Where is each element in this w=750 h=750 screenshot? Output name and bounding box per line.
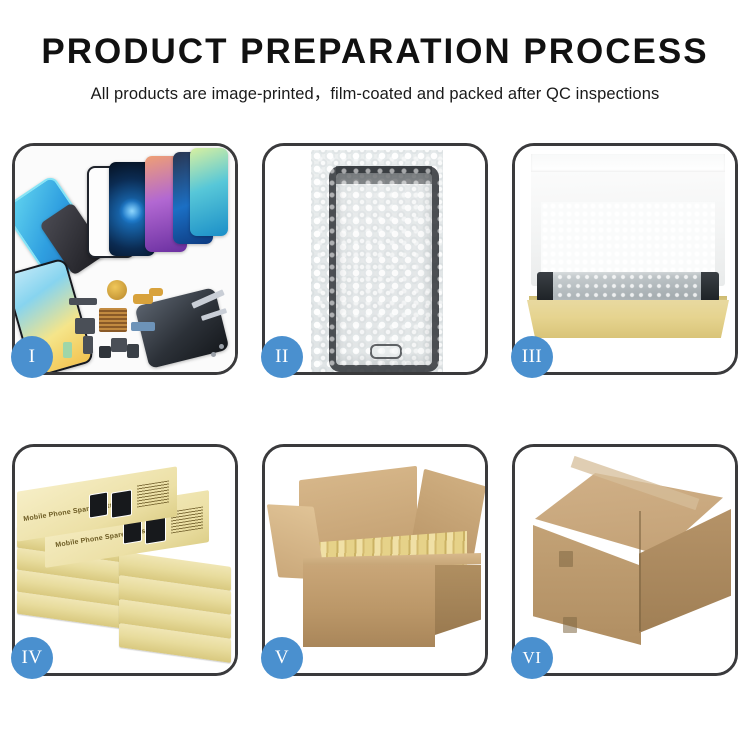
step-1-image-frame — [15, 146, 235, 372]
step-3-image-frame — [515, 146, 735, 372]
step-6-photo-sealed-carton — [515, 447, 735, 673]
product-edge-right — [701, 272, 719, 302]
step-2-photo-bubble-wrapped-screen — [265, 146, 485, 372]
glass-screen-panel — [329, 166, 439, 372]
spare-part-sim-tray — [127, 344, 139, 358]
step-4-photo-box-stack: Mobile Phone Spare Parts Mobile Phone Sp… — [15, 447, 235, 673]
process-step-panel-5[interactable]: V — [262, 444, 488, 676]
retail-box-window-top-2 — [111, 489, 132, 518]
spare-part-speaker — [107, 280, 127, 300]
sealed-carton-handle-tab-top — [559, 551, 573, 567]
step-6-image-frame — [515, 447, 735, 673]
process-step-grid: I II — [12, 143, 738, 676]
spare-part-screw-2 — [219, 344, 224, 349]
process-step-panel-4[interactable]: Mobile Phone Spare Parts Mobile Phone Sp… — [12, 444, 238, 676]
step-badge-4: IV — [11, 637, 53, 679]
sealed-carton-corner-seam — [639, 511, 641, 631]
step-2-image-frame — [265, 146, 485, 372]
carton-front-panel — [303, 565, 435, 647]
retail-box-window-top-1 — [89, 491, 108, 518]
product-edge-left — [537, 272, 553, 302]
process-step-panel-2[interactable]: II — [262, 143, 488, 375]
step-4-image-frame: Mobile Phone Spare Parts Mobile Phone Sp… — [15, 447, 235, 673]
page-subtitle: All products are image-printed，film-coat… — [0, 71, 750, 104]
wallpaper-glow — [119, 198, 145, 224]
step-badge-3: III — [511, 336, 553, 378]
sealed-carton-handle-tab-bottom — [563, 617, 577, 633]
home-button — [370, 344, 402, 359]
foam-liner — [541, 202, 715, 276]
spare-part-screw-1 — [211, 352, 216, 357]
process-step-panel-3[interactable]: III — [512, 143, 738, 375]
spare-part-connector-2 — [83, 336, 93, 354]
bubble-wrap-sheet — [311, 150, 443, 372]
step-badge-5: V — [261, 637, 303, 679]
step-3-photo-boxed-product — [515, 146, 735, 372]
step-badge-1: I — [11, 336, 53, 378]
mailer-box-lid-fold — [531, 154, 725, 172]
spare-part-camera-flex — [131, 322, 155, 331]
process-step-panel-1[interactable]: I — [12, 143, 238, 375]
step-1-photo-parts-layout — [15, 146, 235, 372]
spare-part-flex-cable-2 — [149, 288, 163, 296]
phone-lime-gradient — [190, 148, 228, 236]
spare-part-sensor — [63, 342, 72, 358]
step-5-image-frame — [265, 447, 485, 673]
spare-part-earpiece-mesh — [69, 298, 97, 305]
mailer-box-front-wall — [527, 300, 729, 338]
page-title: PRODUCT PREPARATION PROCESS — [0, 0, 750, 71]
wrapped-product — [537, 272, 719, 302]
carton-side-panel — [435, 565, 481, 635]
spare-part-ic-chip-grid — [99, 308, 127, 332]
spare-part-connector-1 — [75, 318, 95, 334]
step-badge-2: II — [261, 336, 303, 378]
spare-part-button — [99, 346, 111, 358]
process-step-panel-6[interactable]: VI — [512, 444, 738, 676]
step-badge-6: VI — [511, 637, 553, 679]
step-5-photo-carton-filled — [265, 447, 485, 673]
spare-part-vibrator — [111, 338, 127, 352]
page-header: PRODUCT PREPARATION PROCESS All products… — [0, 0, 750, 104]
